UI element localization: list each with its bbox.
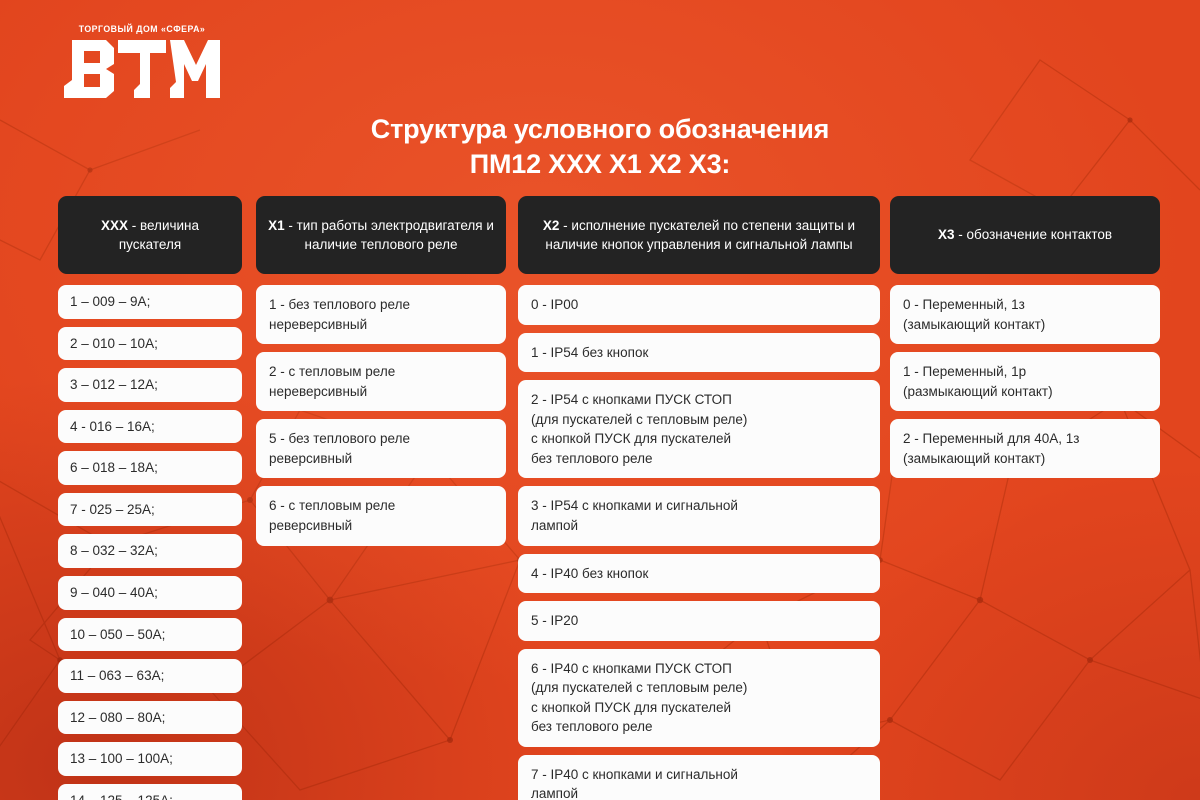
column-header-text-x2: - исполнение пускателей по степени защит… [545,218,855,252]
list-item[interactable]: 5 - без теплового реле реверсивный [256,419,506,478]
brand-logo: ТОРГОВЫЙ ДОМ «СФЕРА» [62,24,222,100]
column-header-text-x3: - обозначение контактов [954,227,1112,242]
list-item[interactable]: 9 – 040 – 40A; [58,576,242,610]
column-header-text-xxx: - величина пускателя [119,218,199,252]
column-code-xxx: XXX [101,218,128,233]
list-item[interactable]: 4 - IP40 без кнопок [518,554,880,594]
list-item[interactable]: 2 - с тепловым реле нереверсивный [256,352,506,411]
designation-structure-table: XXX - величина пускателя 1 – 009 – 9A; 2… [0,196,1200,800]
list-item[interactable]: 1 - без теплового реле нереверсивный [256,285,506,344]
list-item[interactable]: 0 - Переменный, 1з (замыкающий контакт) [890,285,1160,344]
column-x2: X2 - исполнение пускателей по степени за… [518,196,880,800]
list-item[interactable]: 7 - IP40 с кнопками и сигнальной лампой [518,755,880,800]
column-xxx: XXX - величина пускателя 1 – 009 – 9A; 2… [58,196,242,800]
column-header-x3: X3 - обозначение контактов [890,196,1160,274]
vtm-wordmark-logo-icon [62,38,222,100]
list-item[interactable]: 13 – 100 – 100A; [58,742,242,776]
column-header-xxx: XXX - величина пускателя [58,196,242,274]
column-header-x1: X1 - тип работы электродвигателя и налич… [256,196,506,274]
infographic-page: ТОРГОВЫЙ ДОМ «СФЕРА» Структура условного… [0,0,1200,800]
column-x1: X1 - тип работы электродвигателя и налич… [256,196,506,554]
column-header-x2: X2 - исполнение пускателей по степени за… [518,196,880,274]
list-item[interactable]: 3 - IP54 с кнопками и сигнальной лампой [518,486,880,545]
brand-tagline: ТОРГОВЫЙ ДОМ «СФЕРА» [68,24,215,35]
list-item[interactable]: 14 – 125 – 125A; [58,784,242,800]
list-item[interactable]: 2 - Переменный для 40A, 1з (замыкающий к… [890,419,1160,478]
column-code-x1: X1 [268,218,285,233]
page-title-line-1: Структура условного обозначения [250,112,950,147]
list-item[interactable]: 2 – 010 – 10A; [58,327,242,361]
list-item[interactable]: 6 - IP40 с кнопками ПУСК СТОП (для пуска… [518,649,880,747]
list-item[interactable]: 0 - IP00 [518,285,880,325]
column-code-x3: X3 [938,227,955,242]
column-x3: X3 - обозначение контактов 0 - Переменны… [890,196,1160,486]
list-item[interactable]: 1 – 009 – 9A; [58,285,242,319]
list-item[interactable]: 6 - с тепловым реле реверсивный [256,486,506,545]
list-item[interactable]: 1 - Переменный, 1р (размыкающий контакт) [890,352,1160,411]
column-header-text-x1: - тип работы электродвигателя и наличие … [285,218,494,252]
list-item[interactable]: 6 – 018 – 18A; [58,451,242,485]
list-item[interactable]: 3 – 012 – 12A; [58,368,242,402]
list-item[interactable]: 11 – 063 – 63A; [58,659,242,693]
list-item[interactable]: 10 – 050 – 50A; [58,618,242,652]
column-code-x2: X2 [543,218,560,233]
list-item[interactable]: 2 - IP54 с кнопками ПУСК СТОП (для пуска… [518,380,880,478]
page-title-line-2: ПМ12 XXX X1 X2 X3: [250,147,950,182]
list-item[interactable]: 12 – 080 – 80A; [58,701,242,735]
list-item[interactable]: 1 - IP54 без кнопок [518,333,880,373]
list-item[interactable]: 8 – 032 – 32A; [58,534,242,568]
list-item[interactable]: 7 - 025 – 25A; [58,493,242,527]
list-item[interactable]: 4 - 016 – 16A; [58,410,242,444]
page-title: Структура условного обозначения ПМ12 XXX… [250,112,950,181]
list-item[interactable]: 5 - IP20 [518,601,880,641]
